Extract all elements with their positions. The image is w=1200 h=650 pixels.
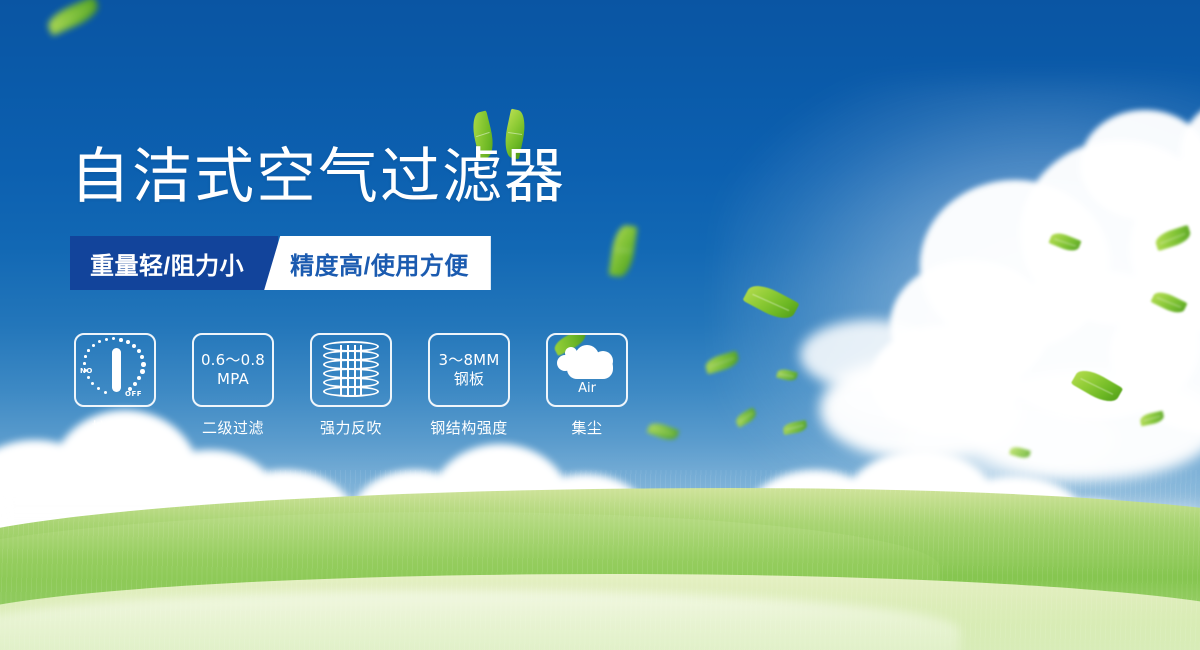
- feature-label: 钢结构强度: [428, 417, 510, 438]
- gauge-off-label: OFF: [125, 390, 142, 398]
- page-title: 自洁式空气过滤器: [70, 144, 566, 210]
- feature-label: 二级过滤: [192, 417, 274, 438]
- feature-icon-box: NO OFF: [74, 333, 156, 407]
- feature-icon-box: 0.6〜0.8 MPA: [192, 333, 274, 407]
- air-cloud-icon: Air: [555, 339, 619, 401]
- pressure-unit-text: MPA: [201, 370, 265, 389]
- feature-label: 强力反吹: [310, 417, 392, 438]
- feature-item-dust-collection[interactable]: Air 集尘: [546, 333, 628, 438]
- filter-cartridge-icon: [323, 341, 379, 399]
- gauge-needle: [112, 348, 121, 392]
- feature-label: 控制仪: [74, 417, 156, 438]
- steel-text-icon: 3〜8MM 钢板: [439, 351, 500, 389]
- feature-icon-box: [310, 333, 392, 407]
- gauge-on-label: NO: [80, 367, 93, 375]
- subtitle-right-panel: 精度高/使用方便: [264, 236, 491, 290]
- feature-label: 集尘: [546, 417, 628, 438]
- feature-item-controller[interactable]: NO OFF 控制仪: [74, 333, 156, 438]
- feature-list: NO OFF 控制仪 0.6〜0.8 MPA 二级过滤: [74, 333, 628, 438]
- grass-field: [0, 470, 1200, 650]
- feature-item-two-stage-filter[interactable]: 0.6〜0.8 MPA 二级过滤: [192, 333, 274, 438]
- steel-plate-text: 钢板: [439, 370, 500, 389]
- air-label: Air: [555, 381, 619, 396]
- pressure-text-icon: 0.6〜0.8 MPA: [201, 351, 265, 389]
- subtitle-left-panel: 重量轻/阻力小: [70, 236, 278, 290]
- grass-sheen: [0, 580, 1200, 650]
- feature-icon-box: 3〜8MM 钢板: [428, 333, 510, 407]
- product-banner: 自洁式空气过滤器 重量轻/阻力小 精度高/使用方便: [0, 0, 1200, 650]
- subtitle-bar: 重量轻/阻力小 精度高/使用方便: [70, 236, 491, 290]
- feature-item-steel-strength[interactable]: 3〜8MM 钢板 钢结构强度: [428, 333, 510, 438]
- pressure-range-text: 0.6〜0.8: [201, 351, 265, 370]
- gauge-icon: NO OFF: [78, 336, 152, 404]
- feature-item-strong-blowback[interactable]: 强力反吹: [310, 333, 392, 438]
- feature-icon-box: Air: [546, 333, 628, 407]
- steel-thickness-text: 3〜8MM: [439, 351, 500, 370]
